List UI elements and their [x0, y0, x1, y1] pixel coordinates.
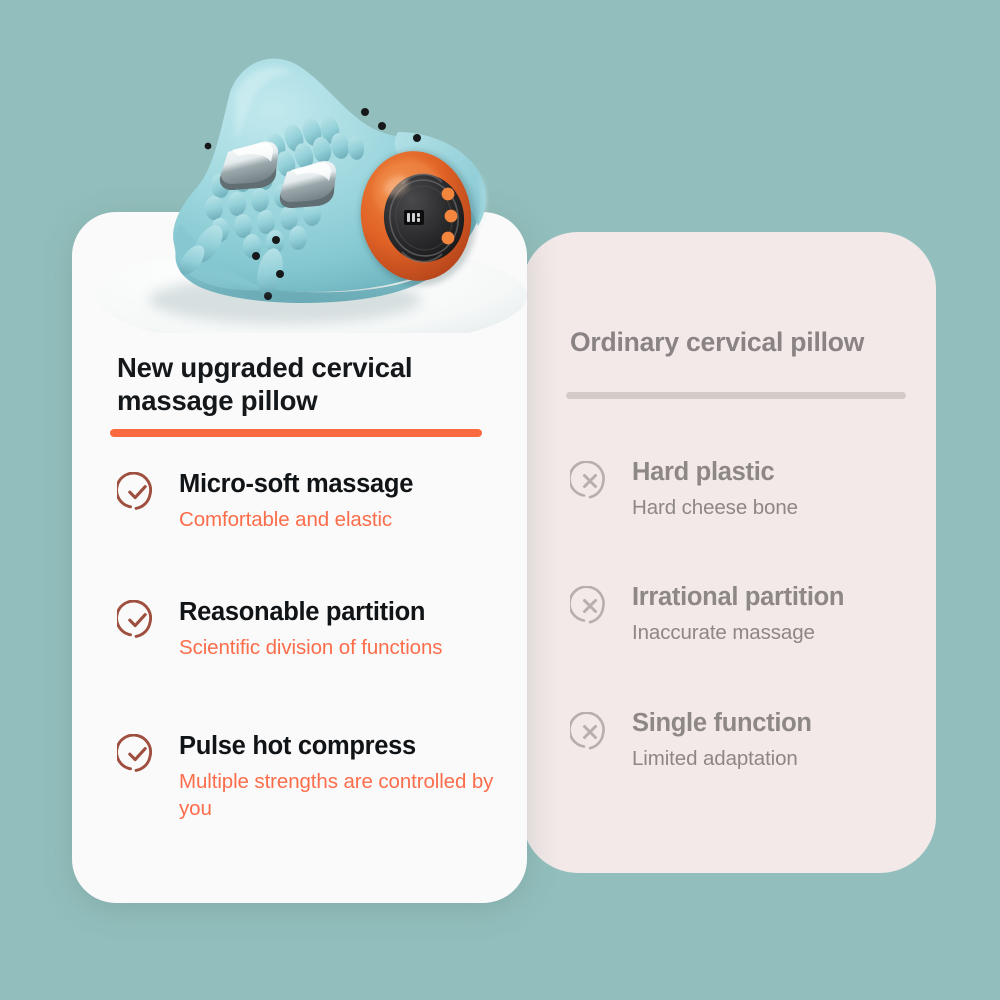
drawback-item: Single function Limited adaptation	[570, 709, 940, 773]
benefit-title: Pulse hot compress	[179, 732, 517, 760]
ordinary-panel-divider	[566, 392, 906, 399]
upgraded-panel-divider	[110, 429, 482, 437]
drawback-subtitle: Inaccurate massage	[632, 620, 940, 647]
check-circle-icon	[117, 600, 157, 640]
ordinary-pillow-card: Ordinary cervical pillow Hard plastic Ha…	[522, 232, 936, 873]
ordinary-panel-title: Ordinary cervical pillow	[570, 327, 930, 358]
benefit-subtitle: Multiple strengths are controlled by you	[179, 768, 517, 822]
benefit-title: Reasonable partition	[179, 598, 517, 626]
upgraded-panel-title: New upgraded cervical massage pillow	[117, 352, 487, 417]
drawback-title: Hard plastic	[632, 458, 940, 486]
drawback-subtitle: Hard cheese bone	[632, 495, 940, 522]
x-circle-icon	[570, 712, 610, 752]
drawback-subtitle: Limited adaptation	[632, 746, 940, 773]
product-image	[80, 28, 530, 333]
benefit-item: Pulse hot compress Multiple strengths ar…	[117, 732, 517, 822]
x-circle-icon	[570, 461, 610, 501]
check-circle-icon	[117, 472, 157, 512]
benefit-item: Reasonable partition Scientific division…	[117, 598, 517, 661]
drawback-title: Single function	[632, 709, 940, 737]
drawback-item: Irrational partition Inaccurate massage	[570, 583, 940, 647]
benefit-item: Micro-soft massage Comfortable and elast…	[117, 470, 517, 533]
benefit-title: Micro-soft massage	[179, 470, 517, 498]
check-circle-icon	[117, 734, 157, 774]
benefit-subtitle: Scientific division of functions	[179, 634, 517, 661]
x-circle-icon	[570, 586, 610, 626]
infographic-canvas: Ordinary cervical pillow Hard plastic Ha…	[0, 0, 1000, 1000]
benefit-subtitle: Comfortable and elastic	[179, 506, 517, 533]
drawback-title: Irrational partition	[632, 583, 940, 611]
drawback-item: Hard plastic Hard cheese bone	[570, 458, 940, 522]
